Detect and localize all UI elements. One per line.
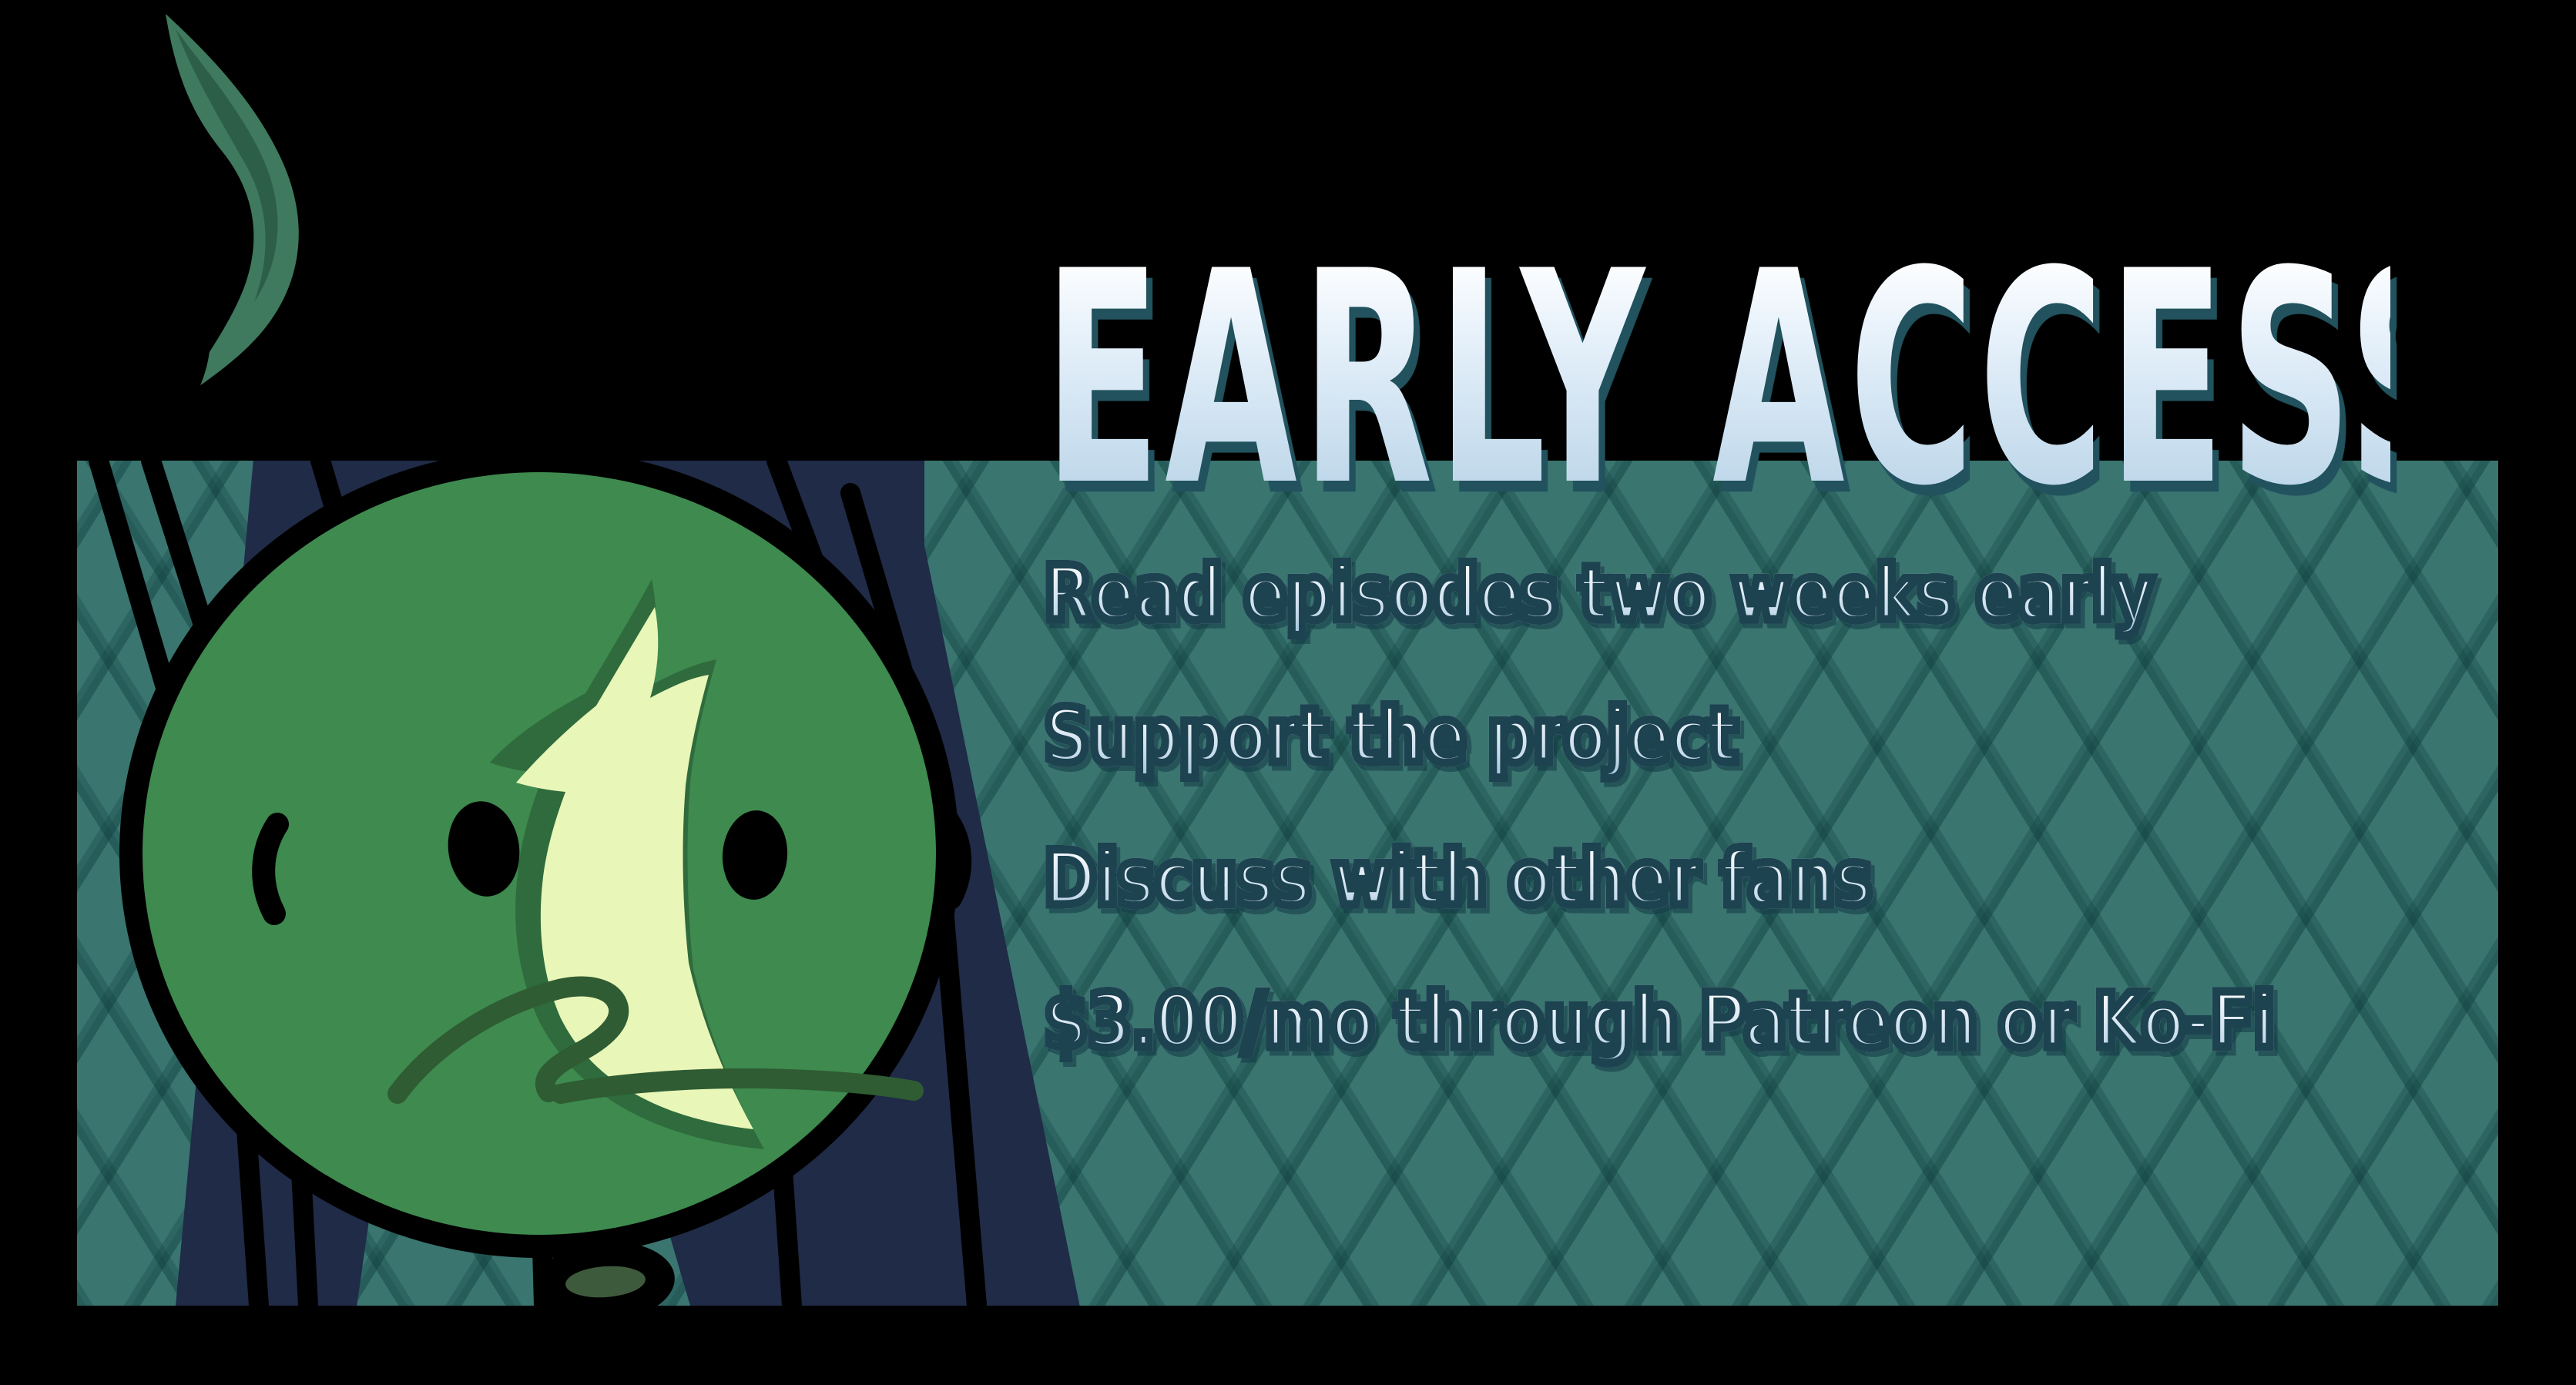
character-illustration xyxy=(0,0,1078,1385)
page-title: EARLY ACCESS xyxy=(1044,254,2390,506)
benefit-line-1: Read episodes two weeks early xyxy=(1044,556,2420,632)
benefit-line-3: Discuss with other fans xyxy=(1044,841,2420,917)
sprout-leaf-icon xyxy=(158,14,299,416)
benefit-line-2: Support the project xyxy=(1044,699,2420,774)
text-column: EARLY ACCESS Read episodes two weeks ear… xyxy=(1044,254,2507,1059)
benefit-line-4-price: $3.00/mo through Patreon or Ko-Fi xyxy=(1044,984,2420,1059)
title-wrap: EARLY ACCESS xyxy=(1044,254,2507,556)
banner-root: EARLY ACCESS Read episodes two weeks ear… xyxy=(0,0,2576,1385)
